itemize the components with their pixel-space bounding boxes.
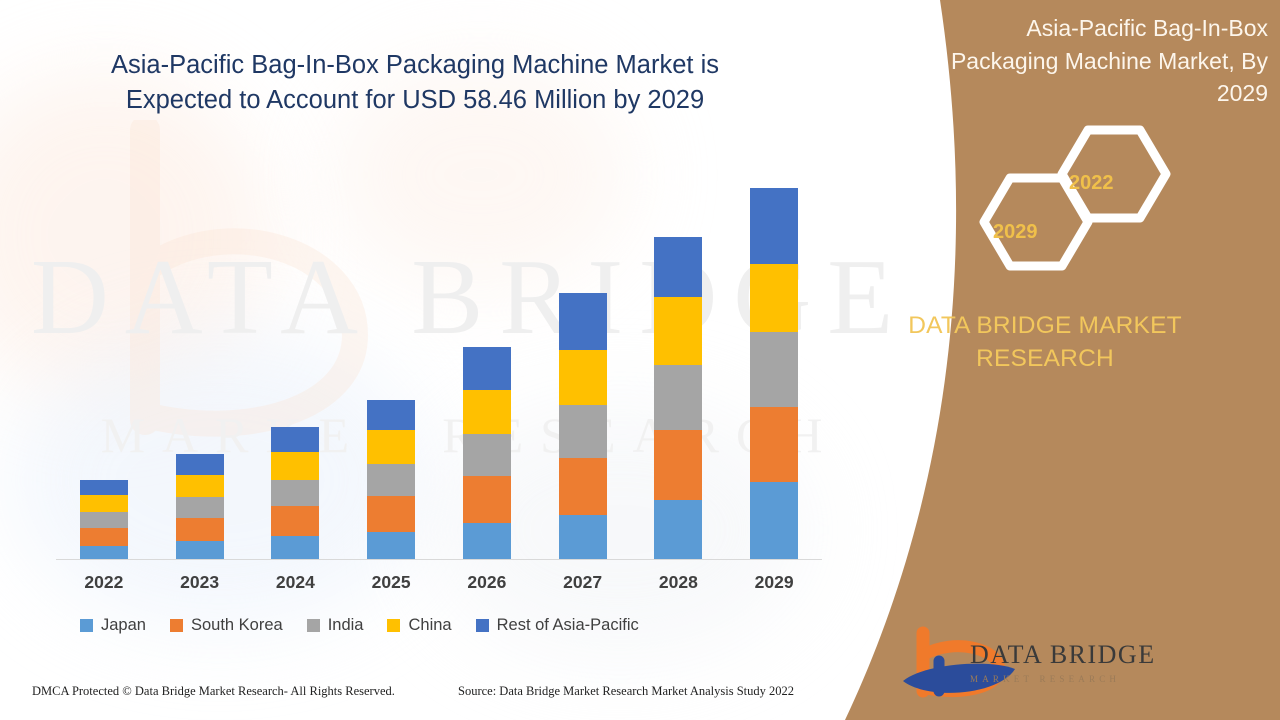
bar-segment-japan-2023 — [176, 541, 224, 560]
bar-segment-rest-of-asia-pacific-2024 — [271, 427, 319, 452]
bar-segment-south-korea-2026 — [463, 476, 511, 523]
bar-segment-india-2027 — [559, 405, 607, 458]
bar-segment-rest-of-asia-pacific-2022 — [80, 480, 128, 495]
bar-segment-japan-2029 — [750, 482, 798, 560]
bar-segment-south-korea-2029 — [750, 407, 798, 482]
bar-segment-india-2025 — [367, 464, 415, 496]
bar-segment-japan-2024 — [271, 536, 319, 560]
x-tick-2026: 2026 — [463, 572, 511, 593]
legend-item-india[interactable]: India — [307, 616, 364, 635]
bar-segment-china-2027 — [559, 350, 607, 405]
footer-source: Source: Data Bridge Market Research Mark… — [458, 684, 794, 699]
bar-segment-china-2023 — [176, 475, 224, 497]
bar-segment-rest-of-asia-pacific-2026 — [463, 347, 511, 390]
logo-subtitle: MARKET RESEARCH — [970, 674, 1230, 684]
x-tick-2028: 2028 — [654, 572, 702, 593]
bar-segment-south-korea-2022 — [80, 528, 128, 546]
bar-segment-india-2026 — [463, 434, 511, 476]
bar-segment-rest-of-asia-pacific-2027 — [559, 293, 607, 350]
legend-item-south-korea[interactable]: South Korea — [170, 616, 283, 635]
legend-label: Japan — [101, 616, 146, 635]
bar-segment-rest-of-asia-pacific-2028 — [654, 237, 702, 297]
x-tick-2024: 2024 — [271, 572, 319, 593]
chart-title: Asia-Pacific Bag-In-Box Packaging Machin… — [60, 48, 770, 118]
logo-name: DATA BRIDGE — [970, 640, 1230, 670]
bar-segment-japan-2026 — [463, 523, 511, 560]
panel-title: Asia-Pacific Bag-In-Box Packaging Machin… — [950, 12, 1268, 110]
bar-column-2022 — [80, 182, 128, 560]
x-axis-tick-labels: 20222023202420252026202720282029 — [56, 572, 822, 593]
panel-brand-name: DATA BRIDGE MARKET RESEARCH — [810, 310, 1280, 376]
hexagon-label-2029: 2029 — [993, 221, 1038, 244]
bar-column-2026 — [463, 182, 511, 560]
bar-segment-china-2024 — [271, 452, 319, 480]
bar-segment-china-2022 — [80, 495, 128, 512]
bar-segment-india-2022 — [80, 512, 128, 528]
chart-legend: JapanSouth KoreaIndiaChinaRest of Asia-P… — [80, 616, 820, 635]
legend-label: India — [328, 616, 364, 635]
legend-item-rest-of-asia-pacific[interactable]: Rest of Asia-Pacific — [476, 616, 639, 635]
legend-swatch-icon — [387, 619, 400, 632]
legend-label: China — [408, 616, 451, 635]
x-axis-line — [56, 559, 822, 561]
legend-swatch-icon — [307, 619, 320, 632]
bar-segment-india-2028 — [654, 365, 702, 430]
bar-segment-china-2026 — [463, 390, 511, 434]
legend-label: Rest of Asia-Pacific — [497, 616, 639, 635]
legend-swatch-icon — [170, 619, 183, 632]
bar-segment-rest-of-asia-pacific-2023 — [176, 454, 224, 475]
legend-item-japan[interactable]: Japan — [80, 616, 146, 635]
x-tick-2025: 2025 — [367, 572, 415, 593]
panel-brand-line-2: RESEARCH — [810, 343, 1280, 376]
bar-segment-japan-2028 — [654, 500, 702, 560]
legend-item-china[interactable]: China — [387, 616, 451, 635]
x-tick-2027: 2027 — [559, 572, 607, 593]
logo-text-block: DATA BRIDGE MARKET RESEARCH — [970, 640, 1230, 684]
chart-plot-area — [56, 180, 822, 560]
bar-column-2024 — [271, 182, 319, 560]
bar-segment-south-korea-2023 — [176, 518, 224, 541]
panel-brand-line-1: DATA BRIDGE MARKET — [810, 310, 1280, 343]
legend-swatch-icon — [476, 619, 489, 632]
hexagon-label-2022: 2022 — [1069, 172, 1114, 195]
bar-segment-south-korea-2028 — [654, 430, 702, 500]
bar-column-2028 — [654, 182, 702, 560]
bar-segment-rest-of-asia-pacific-2025 — [367, 400, 415, 430]
footer-copyright: DMCA Protected © Data Bridge Market Rese… — [32, 684, 395, 699]
bar-segment-south-korea-2025 — [367, 496, 415, 532]
bar-segment-rest-of-asia-pacific-2029 — [750, 188, 798, 264]
x-tick-2023: 2023 — [176, 572, 224, 593]
bar-column-2027 — [559, 182, 607, 560]
right-side-panel: Asia-Pacific Bag-In-Box Packaging Machin… — [810, 0, 1280, 720]
bar-segment-south-korea-2027 — [559, 458, 607, 515]
stacked-bar-group — [56, 182, 822, 560]
bar-segment-china-2028 — [654, 297, 702, 365]
bar-column-2025 — [367, 182, 415, 560]
x-tick-2029: 2029 — [750, 572, 798, 593]
bar-segment-japan-2027 — [559, 515, 607, 560]
bar-segment-south-korea-2024 — [271, 506, 319, 536]
bar-column-2023 — [176, 182, 224, 560]
bar-column-2029 — [750, 182, 798, 560]
hexagon-badges — [810, 118, 1280, 278]
bar-segment-india-2023 — [176, 497, 224, 518]
bar-segment-china-2029 — [750, 264, 798, 332]
legend-swatch-icon — [80, 619, 93, 632]
bar-segment-japan-2025 — [367, 532, 415, 560]
legend-label: South Korea — [191, 616, 283, 635]
bar-segment-india-2024 — [271, 480, 319, 506]
x-tick-2022: 2022 — [80, 572, 128, 593]
bar-segment-india-2029 — [750, 332, 798, 407]
bar-segment-china-2025 — [367, 430, 415, 464]
